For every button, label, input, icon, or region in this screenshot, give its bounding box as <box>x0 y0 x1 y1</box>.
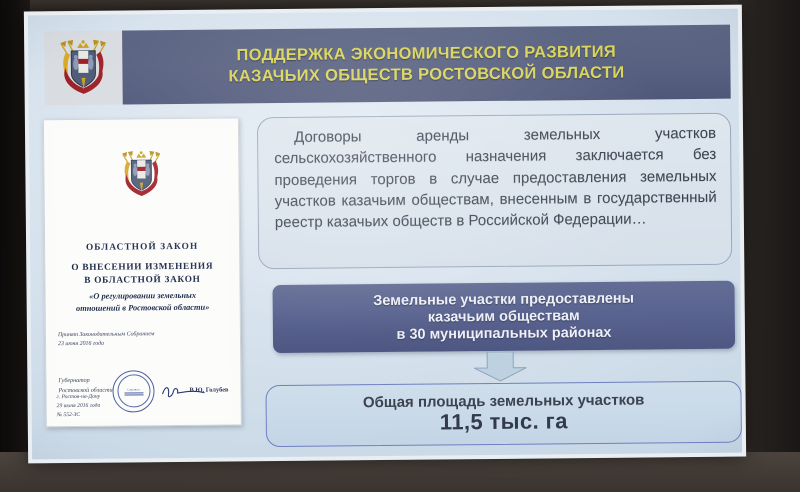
land-plots-provided-line-3: в 30 муниципальных районах <box>396 325 611 343</box>
document-heading: ОБЛАСТНОЙ ЗАКОН <box>71 242 213 253</box>
slide-frame: ПОДДЕРЖКА ЭКОНОМИЧЕСКОГО РАЗВИТИЯ КАЗАЧЬ… <box>24 5 746 464</box>
projection-screen: ПОДДЕРЖКА ЭКОНОМИЧЕСКОГО РАЗВИТИЯ КАЗАЧЬ… <box>24 5 746 464</box>
slide-title-banner: ПОДДЕРЖКА ЭКОНОМИЧЕСКОГО РАЗВИТИЯ КАЗАЧЬ… <box>122 25 731 105</box>
document-signer-title-line-2: Ростовской области <box>58 386 112 396</box>
slide-canvas: ПОДДЕРЖКА ЭКОНОМИЧЕСКОГО РАЗВИТИЯ КАЗАЧЬ… <box>28 9 742 460</box>
document-adoption-line-1: Принят Законодательным Собранием <box>58 330 155 340</box>
slide-header: ПОДДЕРЖКА ЭКОНОМИЧЕСКОГО РАЗВИТИЯ КАЗАЧЬ… <box>44 25 731 106</box>
document-adoption-note: Принят Законодательным Собранием 23 июня… <box>58 330 155 349</box>
document-quoted-law-line-2: отношений в Ростовской области» <box>72 302 214 315</box>
seal-bar <box>124 395 143 396</box>
emblem-container <box>44 31 123 106</box>
land-plots-provided-line-1: Земельные участки предоставлены <box>373 291 634 310</box>
arrow-down-icon <box>473 352 527 383</box>
photo-of-projected-slide: ПОДДЕРЖКА ЭКОНОМИЧЕСКОГО РАЗВИТИЯ КАЗАЧЬ… <box>0 0 800 492</box>
document-signer-name: В.Ю. Голубев <box>189 386 228 393</box>
law-quote-text: Договоры аренды земельных участков сельс… <box>274 123 717 234</box>
rostov-oblast-coat-of-arms-icon <box>119 149 163 199</box>
wall-right-of-screen <box>738 0 800 492</box>
document-page: ОБЛАСТНОЙ ЗАКОН О ВНЕСЕНИИ ИЗМЕНЕНИЯ В О… <box>54 127 231 421</box>
seal-text: Справка <box>127 387 139 391</box>
document-number: № 552-ЗС <box>57 411 101 420</box>
document-title-block: ОБЛАСТНОЙ ЗАКОН О ВНЕСЕНИИ ИЗМЕНЕНИЯ В О… <box>71 242 214 315</box>
seal-bar <box>124 392 143 393</box>
slide-title-line-2: КАЗАЧЬИХ ОБЩЕСТВ РОСТОВСКОЙ ОБЛАСТИ <box>228 64 624 87</box>
document-subject-line-1: О ВНЕСЕНИИ ИЗМЕНЕНИЯ <box>71 261 213 275</box>
land-plots-provided-line-2: казачьим обществам <box>428 308 580 325</box>
land-plots-provided-box: Земельные участки предоставлены казачьим… <box>272 281 735 353</box>
document-adoption-line-2: 23 июня 2016 года <box>58 339 155 349</box>
document-date: 29 июня 2016 года <box>57 402 101 411</box>
total-area-value: 11,5 тыс. га <box>440 408 568 435</box>
document-signature-block: Губернатор Ростовской области Справка <box>56 369 230 387</box>
document-signer-title-line-1: Губернатор <box>58 377 112 387</box>
official-round-seal-icon: Справка <box>112 370 154 412</box>
document-crest <box>119 149 164 204</box>
document-signer-title: Губернатор Ростовской области <box>58 377 112 397</box>
law-quote-box: Договоры аренды земельных участков сельс… <box>257 113 732 270</box>
regional-law-document-image: ОБЛАСТНОЙ ЗАКОН О ВНЕСЕНИИ ИЗМЕНЕНИЯ В О… <box>43 117 242 427</box>
document-subject: О ВНЕСЕНИИ ИЗМЕНЕНИЯ В ОБЛАСТНОЙ ЗАКОН <box>71 261 213 287</box>
slide-title-line-1: ПОДДЕРЖКА ЭКОНОМИЧЕСКОГО РАЗВИТИЯ <box>236 43 616 66</box>
document-footer-details: г. Ростов-на-Дону 29 июня 2016 года № 55… <box>57 393 101 420</box>
document-quoted-law: «О регулировании земельных отношений в Р… <box>72 290 214 315</box>
document-subject-line-2: В ОБЛАСТНОЙ ЗАКОН <box>71 273 213 287</box>
rostov-oblast-coat-of-arms-icon <box>57 38 110 98</box>
total-area-box: Общая площадь земельных участков 11,5 ты… <box>265 381 742 448</box>
